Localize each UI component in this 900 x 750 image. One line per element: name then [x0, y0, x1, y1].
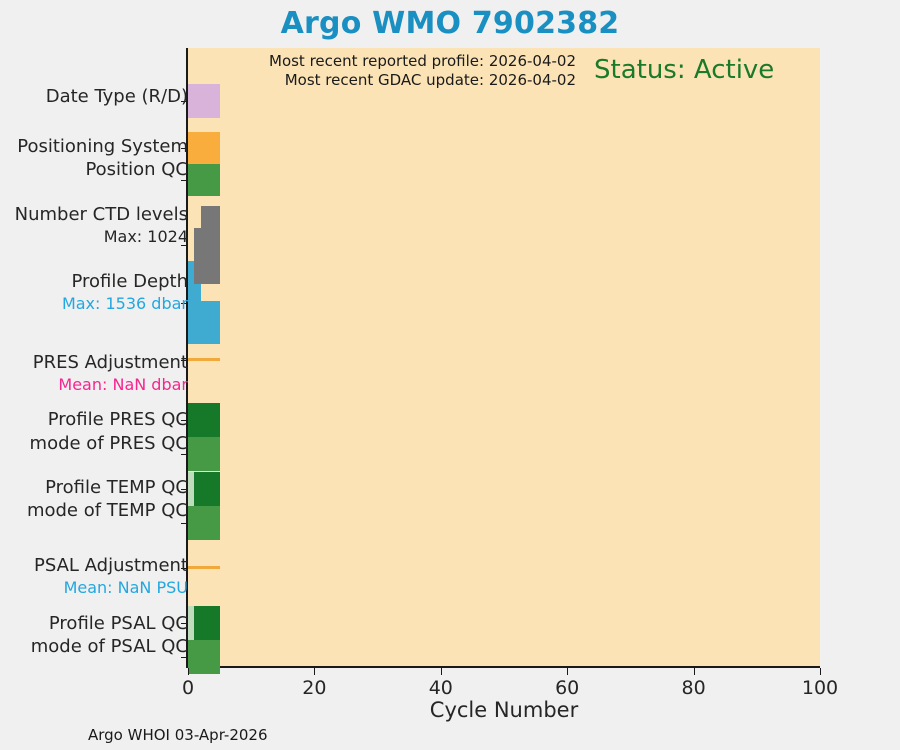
y-label-profile-temp-qc: Profile TEMP QC: [45, 477, 188, 499]
bar-mode-of-pres-qc: [188, 437, 220, 471]
y-label-mode-of-psal-qc-text: mode of PSAL QC: [31, 636, 188, 658]
y-label-mode-of-pres-qc-text: mode of PRES QC: [30, 433, 188, 455]
x-tick-20: [314, 668, 315, 675]
y-label-pres-adjustment-text: PRES Adjustment: [33, 352, 188, 374]
y-sublabel-profile-depth: Max: 1536 dbar: [62, 293, 188, 315]
y-label-profile-depth: Profile DepthMax: 1536 dbar: [62, 271, 188, 315]
chart-canvas: Most recent reported profile: 2026-04-02…: [188, 48, 820, 666]
y-label-profile-psal-qc: Profile PSAL QC: [49, 613, 188, 635]
status-badge: Status: Active: [594, 55, 774, 85]
y-label-positioning-system-text: Positioning System: [17, 136, 188, 158]
x-tick-label-0: 0: [182, 677, 194, 699]
y-label-profile-psal-qc-text: Profile PSAL QC: [49, 613, 188, 635]
x-tick-label-20: 20: [302, 677, 326, 699]
y-sublabel-psal-adjustment: Mean: NaN PSU: [34, 577, 188, 599]
y-label-number-ctd-levels: Number CTD levelsMax: 1024: [15, 204, 188, 248]
y-sublabel-number-ctd-levels: Max: 1024: [15, 226, 188, 248]
y-sublabel-pres-adjustment: Mean: NaN dbar: [33, 374, 188, 396]
x-tick-40: [441, 668, 442, 675]
y-label-psal-adjustment-text: PSAL Adjustment: [34, 555, 188, 577]
y-label-position-qc: Position QC: [85, 159, 188, 181]
y-tick-mode-of-temp-qc: [181, 523, 188, 524]
x-tick-0: [188, 668, 189, 675]
x-tick-label-100: 100: [802, 677, 838, 699]
y-label-profile-depth-text: Profile Depth: [62, 271, 188, 293]
bar-pres-adjustment: [188, 358, 220, 361]
x-tick-label-40: 40: [429, 677, 453, 699]
bar-positioning-system: [188, 132, 220, 164]
x-tick-80: [694, 668, 695, 675]
bar-profile-temp-qc: [194, 472, 219, 506]
y-label-mode-of-pres-qc: mode of PRES QC: [30, 433, 188, 455]
y-label-date-type-text: Date Type (R/D): [46, 86, 188, 108]
y-label-profile-temp-qc-text: Profile TEMP QC: [45, 477, 188, 499]
y-label-mode-of-psal-qc: mode of PSAL QC: [31, 636, 188, 658]
x-tick-label-60: 60: [555, 677, 579, 699]
y-label-position-qc-text: Position QC: [85, 159, 188, 181]
bar-date-type: [188, 84, 220, 118]
recent-dates-block: Most recent reported profile: 2026-04-02…: [226, 52, 576, 90]
y-label-positioning-system: Positioning System: [17, 136, 188, 158]
x-tick-60: [567, 668, 568, 675]
y-label-mode-of-temp-qc: mode of TEMP QC: [27, 500, 188, 522]
bar-position-qc: [188, 164, 220, 196]
x-tick-label-80: 80: [682, 677, 706, 699]
y-label-psal-adjustment: PSAL AdjustmentMean: NaN PSU: [34, 555, 188, 599]
chart-plot-area: Most recent reported profile: 2026-04-02…: [186, 48, 820, 668]
bar-psal-adjustment: [188, 566, 220, 569]
recent-profile-text: Most recent reported profile: 2026-04-02: [226, 52, 576, 71]
page-title: Argo WMO 7902382: [0, 6, 900, 41]
credit-text: Argo WHOI 03-Apr-2026: [88, 726, 268, 744]
y-label-date-type: Date Type (R/D): [46, 86, 188, 108]
y-label-profile-pres-qc: Profile PRES QC: [48, 409, 188, 431]
y-label-profile-pres-qc-text: Profile PRES QC: [48, 409, 188, 431]
bar-number-ctd-levels-seg-2: [201, 206, 220, 284]
bar-profile-depth-seg-2: [201, 301, 220, 344]
bar-profile-pres-qc: [188, 403, 220, 437]
y-label-mode-of-temp-qc-text: mode of TEMP QC: [27, 500, 188, 522]
bar-mode-of-temp-qc: [188, 506, 220, 540]
x-axis-title: Cycle Number: [188, 698, 820, 722]
bar-profile-psal-qc: [194, 606, 219, 640]
y-label-number-ctd-levels-text: Number CTD levels: [15, 204, 188, 226]
x-tick-100: [820, 668, 821, 675]
y-label-pres-adjustment: PRES AdjustmentMean: NaN dbar: [33, 352, 188, 396]
recent-gdac-text: Most recent GDAC update: 2026-04-02: [226, 71, 576, 90]
